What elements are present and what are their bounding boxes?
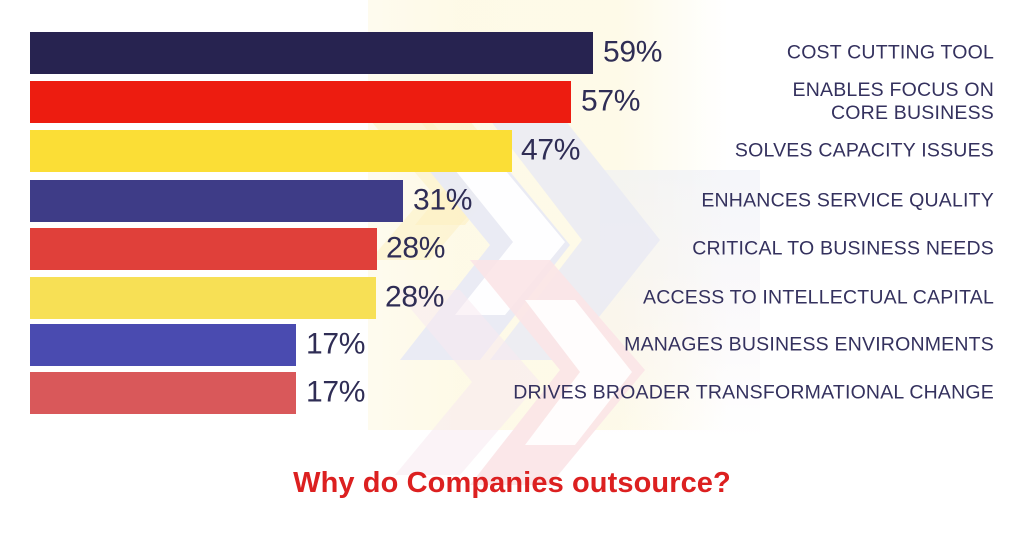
chart-row: 31% ENHANCES SERVICE QUALITY bbox=[0, 180, 1024, 222]
chart-row: 28% ACCESS TO INTELLECTUAL CAPITAL bbox=[0, 277, 1024, 319]
bar-solves-capacity-issues bbox=[30, 130, 512, 172]
bar-value-label: 28% bbox=[385, 280, 444, 314]
chart-row: 28% CRITICAL TO BUSINESS NEEDS bbox=[0, 228, 1024, 270]
chart-row: 59% COST CUTTING TOOL bbox=[0, 32, 1024, 74]
bar-value-label: 47% bbox=[521, 133, 580, 167]
bar-chart: 59% COST CUTTING TOOL 57% ENABLES FOCUS … bbox=[0, 0, 1024, 440]
bar-value-label: 28% bbox=[386, 231, 445, 265]
bar-value-label: 17% bbox=[306, 327, 365, 361]
bar-critical-to-business-needs bbox=[30, 228, 377, 270]
bar-category-label: ACCESS TO INTELLECTUAL CAPITAL bbox=[574, 287, 994, 310]
bar-enables-focus-on-core-business bbox=[30, 81, 571, 123]
chart-row: 57% ENABLES FOCUS ON CORE BUSINESS bbox=[0, 81, 1024, 123]
chart-title: Why do Companies outsource? bbox=[0, 467, 1024, 500]
bar-category-label: DRIVES BROADER TRANSFORMATIONAL CHANGE bbox=[454, 382, 994, 405]
chart-row: 17% MANAGES BUSINESS ENVIRONMENTS bbox=[0, 324, 1024, 366]
bar-value-label: 17% bbox=[306, 375, 365, 409]
chart-row: 47% SOLVES CAPACITY ISSUES bbox=[0, 130, 1024, 172]
bar-enhances-service-quality bbox=[30, 180, 403, 222]
chart-row: 17% DRIVES BROADER TRANSFORMATIONAL CHAN… bbox=[0, 372, 1024, 414]
bar-category-label: SOLVES CAPACITY ISSUES bbox=[574, 140, 994, 163]
bar-value-label: 31% bbox=[413, 183, 472, 217]
bar-category-label: ENHANCES SERVICE QUALITY bbox=[574, 190, 994, 213]
bar-manages-business-environments bbox=[30, 324, 296, 366]
bar-category-label: CRITICAL TO BUSINESS NEEDS bbox=[574, 238, 994, 261]
bar-cost-cutting-tool bbox=[30, 32, 593, 74]
bar-category-label: MANAGES BUSINESS ENVIRONMENTS bbox=[554, 334, 994, 357]
bar-drives-broader-transformational-change bbox=[30, 372, 296, 414]
bar-access-to-intellectual-capital bbox=[30, 277, 376, 319]
infographic-canvas: 59% COST CUTTING TOOL 57% ENABLES FOCUS … bbox=[0, 0, 1024, 540]
bar-category-label: COST CUTTING TOOL bbox=[574, 42, 994, 65]
bar-category-label: ENABLES FOCUS ON CORE BUSINESS bbox=[574, 79, 994, 125]
